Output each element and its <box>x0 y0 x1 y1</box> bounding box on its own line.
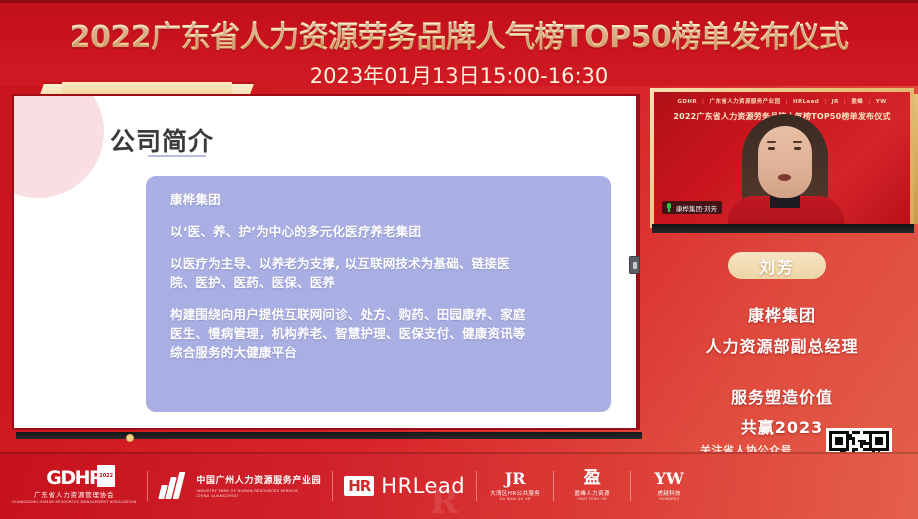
video-overlay-logos: GDHR | 广东省人力资源服务产业园 | HRLead | JR | 盈峰 |… <box>654 97 910 105</box>
content-line-strategy-2: 院、医护、医药、医保、医养 <box>170 273 589 292</box>
speaker-mouth <box>778 174 791 181</box>
logo-jr: JR 大湾区HR公共服务 DA WAN QU HR <box>488 464 542 508</box>
video-logo-jr: JR <box>832 99 839 105</box>
speaker-name: 刘芳 <box>759 254 795 278</box>
jr-mark: JR <box>505 470 526 487</box>
video-logo-separator-4: | <box>844 99 846 105</box>
speaker-info-block: 康桦集团 人力资源部副总经理 服务塑造价值 共赢2023 <box>646 302 918 438</box>
video-logo-separator-3: | <box>824 99 826 105</box>
speaker-brow-right <box>793 141 802 143</box>
huwareji-cn-name: 虎越科技 <box>657 489 681 497</box>
banner-top-rule <box>0 0 918 3</box>
event-banner: 2022广东省人力资源劳务品牌人气榜TOP50榜单发布仪式 2023年01月13… <box>0 0 918 86</box>
logo-divider <box>332 471 333 501</box>
yuefeng-en-name: YING FENG HR <box>577 497 607 501</box>
logo-gdhr: GDHR2022 广东省人力资源管理协会 GUANGDONG HUMAN RES… <box>12 464 136 508</box>
park-cn-name: 中国广州人力资源服务产业园 <box>196 473 321 486</box>
presentation-screen: 2022广东省人力资源劳务品牌人气榜TOP50榜单发布仪式 2023年01月13… <box>0 0 918 519</box>
gdhr-year-badge: 2022 <box>97 465 115 487</box>
gdhr-mark: GDHR2022 <box>46 468 102 488</box>
speaker-role: 人力资源部副总经理 <box>646 333 918 357</box>
video-logo-gdhr: GDHR <box>677 99 697 105</box>
microphone-icon <box>665 203 673 212</box>
slide-content-box: 康桦集团 以‘医、养、护’为中心的多元化医疗养老集团 以医疗为主导、以养老为支撑… <box>146 176 611 412</box>
gdhr-en-name: GUANGDONG HUMAN RESOURCES MANAGEMENT ASS… <box>12 500 136 504</box>
video-name-badge-label: 康桦集团·刘芳 <box>676 203 717 213</box>
logobar-watermark: R <box>430 482 458 519</box>
slide-progress-dot[interactable] <box>126 434 134 442</box>
slide-progress-rail[interactable] <box>16 432 642 439</box>
yuefeng-cn-name: 盈峰人力资源 <box>574 489 609 497</box>
video-logo-separator: | <box>702 99 704 105</box>
logo-divider <box>553 471 554 501</box>
speaker-video[interactable]: GDHR | 广东省人力资源服务产业园 | HRLead | JR | 盈峰 |… <box>654 92 910 224</box>
video-logo-park: 广东省人力资源服务产业园 <box>710 97 781 105</box>
slide-heading-underline <box>148 155 206 157</box>
speaker-brow-left <box>767 141 776 143</box>
video-logo-hrlead: HRLead <box>793 99 819 105</box>
speaker-face <box>758 126 812 198</box>
huwareji-en-name: HUWAREJI <box>659 497 679 501</box>
logo-industry-park: 中国广州人力资源服务产业园 INDUSTRY PARK OF HUMAN RES… <box>159 464 321 508</box>
logo-divider <box>476 471 477 501</box>
jr-cn-name: 大湾区HR公共服务 <box>490 489 540 497</box>
content-line-strategy-1: 以医疗为主导、以养老为支撑, 以互联网技术为基础、链接医 <box>170 254 589 273</box>
video-logo-yuefeng: 盈峰 <box>851 97 863 105</box>
video-logo-yw: YW <box>876 99 887 105</box>
content-line-platform-3: 综合服务的大健康平台 <box>170 343 589 362</box>
content-line-company: 康桦集团 <box>170 190 589 209</box>
slide-heading: 公司简介 <box>110 122 214 158</box>
gdhr-cn-name: 广东省人力资源管理协会 <box>34 489 114 499</box>
logo-divider <box>630 471 631 501</box>
yuefeng-mark: 盈 <box>584 470 601 487</box>
jr-en-name: DA WAN QU HR <box>499 497 530 501</box>
slogan-line-1: 服务塑造价值 <box>646 384 918 408</box>
industry-park-icon <box>159 471 189 501</box>
decorative-circle <box>14 96 104 198</box>
content-line-positioning: 以‘医、养、护’为中心的多元化医疗养老集团 <box>170 222 589 241</box>
logobar-top-rule <box>0 452 918 454</box>
event-title: 2022广东省人力资源劳务品牌人气榜TOP50榜单发布仪式 <box>0 12 918 56</box>
video-bottom-bar <box>652 224 914 233</box>
sponsor-logo-bar: R GDHR2022 广东省人力资源管理协会 GUANGDONG HUMAN R… <box>0 452 918 519</box>
video-name-badge: 康桦集团·刘芳 <box>662 201 722 214</box>
logo-huwareji: YW 虎越科技 HUWAREJI <box>642 464 696 508</box>
logo-yuefeng: 盈 盈峰人力资源 YING FENG HR <box>565 464 619 508</box>
logo-divider <box>147 471 148 501</box>
speaker-eye-left <box>768 147 775 150</box>
hrlead-badge: HR <box>344 476 374 496</box>
slide-scroll-handle[interactable] <box>629 256 640 274</box>
content-line-platform-2: 医生、慢病管理，机构养老、智慧护理、医保支付、健康资讯等 <box>170 324 589 343</box>
speaker-name-pill: 刘芳 <box>728 252 826 279</box>
speaker-eye-right <box>794 147 801 150</box>
video-logo-separator-5: | <box>868 99 870 105</box>
speaker-company: 康桦集团 <box>646 302 918 326</box>
park-en-name-2: CHINA GUANGZHOU <box>196 493 321 498</box>
huwareji-mark: YW <box>654 470 683 487</box>
content-line-platform-1: 构建围绕向用户提供互联网问诊、处方、购药、田园康养、家庭 <box>170 305 589 324</box>
video-logo-separator-2: | <box>786 99 788 105</box>
